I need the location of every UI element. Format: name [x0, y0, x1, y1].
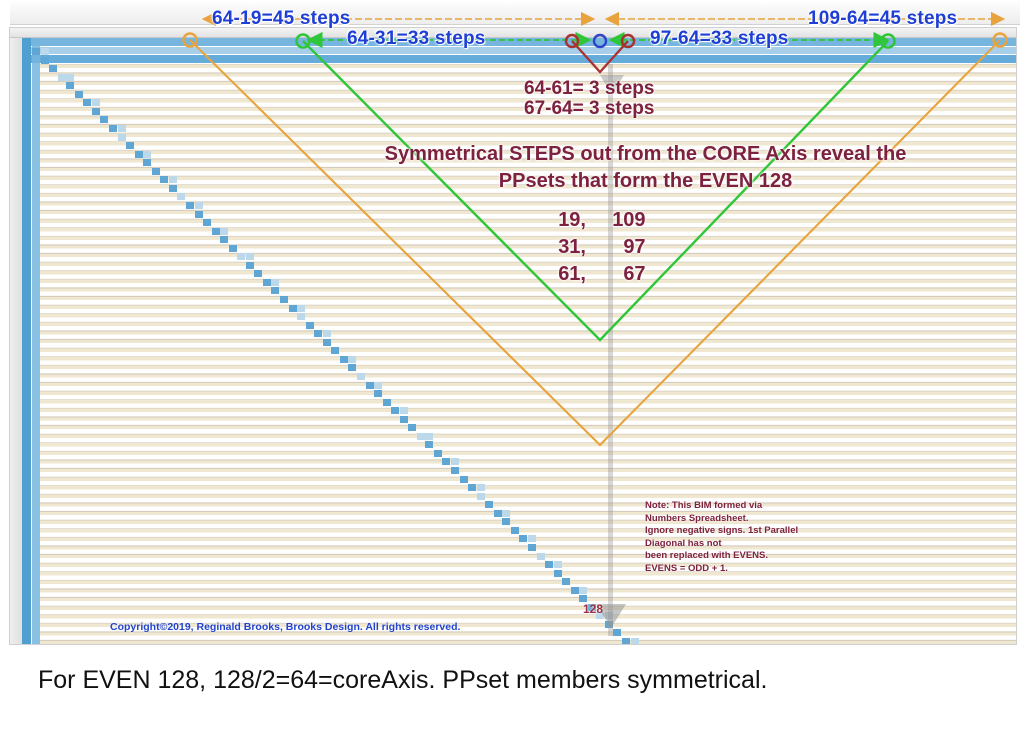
page-root: 64-19=45 steps 64-31=33 steps 97-64=33 s… — [0, 0, 1024, 748]
note-line-3: Ignore negative signs. 1st Parallel — [645, 525, 850, 538]
ppset-1-right: 109 — [592, 207, 646, 234]
copyright-notice: Copyright©2019, Reginald Brooks, Brooks … — [110, 621, 460, 633]
ppset-1-left: 19, — [552, 207, 586, 234]
label-97-64: 97-64=33 steps — [650, 28, 789, 50]
label-64-61: 64-61= 3 steps — [524, 78, 654, 100]
ppset-2-left: 31, — [552, 234, 586, 261]
figure-headline: Symmetrical STEPS out from the CORE Axis… — [333, 141, 958, 195]
note-block: Note: This BIM formed via Numbers Spread… — [645, 500, 850, 576]
label-64-19: 64-19=45 steps — [212, 8, 351, 30]
note-line-1: Note: This BIM formed via — [645, 500, 850, 513]
label-109-64: 109-64=45 steps — [808, 8, 957, 30]
bim-figure: 64-19=45 steps 64-31=33 steps 97-64=33 s… — [0, 0, 1024, 648]
headline-line-1: Symmetrical STEPS out from the CORE Axis… — [385, 143, 907, 165]
note-line-6: EVENS = ODD + 1. — [645, 563, 850, 576]
ppset-3-left: 61, — [552, 261, 586, 288]
note-line-5: been replaced with EVENS. — [645, 550, 850, 563]
note-line-2: Numbers Spreadsheet. — [645, 513, 850, 526]
caption-area: For EVEN 128, 128/2=64=coreAxis. PPset m… — [0, 648, 1024, 748]
caption-text: For EVEN 128, 128/2=64=coreAxis. PPset m… — [38, 666, 767, 695]
ppset-row-3: 61, 67 — [552, 261, 646, 288]
note-line-4: Diagonal has not — [645, 538, 850, 551]
ppset-2-right: 97 — [592, 234, 646, 261]
ppset-row-1: 19, 109 — [552, 207, 646, 234]
ppset-list: 19, 109 31, 97 61, 67 — [552, 207, 646, 288]
label-67-64: 67-64= 3 steps — [524, 98, 654, 120]
ppset-3-right: 67 — [592, 261, 646, 288]
ppset-row-2: 31, 97 — [552, 234, 646, 261]
annotation-overlay — [0, 0, 1024, 648]
label-64-31: 64-31=33 steps — [347, 28, 486, 50]
headline-line-2: PPsets that form the EVEN 128 — [333, 168, 958, 195]
marker-64-core — [594, 35, 606, 47]
core-axis-value-label: 128 — [583, 602, 603, 616]
